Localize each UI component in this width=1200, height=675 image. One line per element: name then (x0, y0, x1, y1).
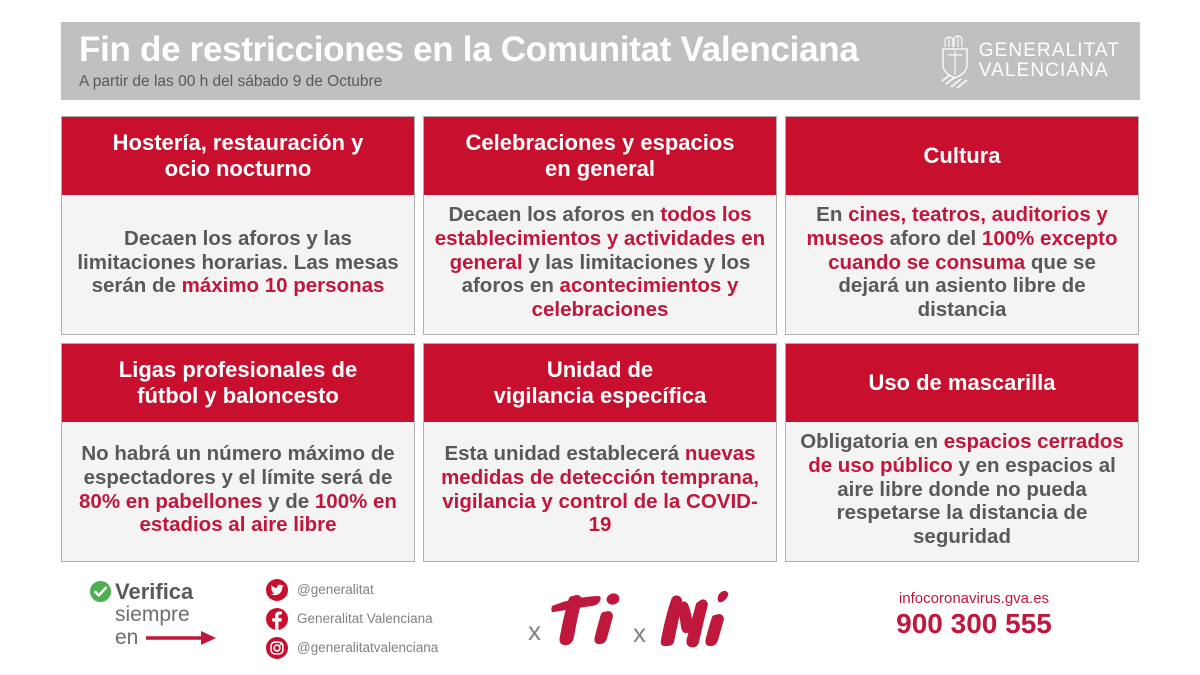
body-text: Obligatoria en (800, 430, 944, 453)
card-body-text: En cines, teatros, auditorios y museos a… (796, 203, 1128, 323)
campaign-logo-x-ti-x-mi: x x (516, 582, 776, 654)
generalitat-crest-icon (940, 34, 970, 88)
body-text: No habrá un número máximo de espectadore… (81, 442, 394, 489)
card-title: Hostería, restauración yocio nocturno (62, 117, 414, 195)
campaign-mi (661, 591, 728, 648)
twitter-icon[interactable] (266, 579, 288, 601)
card-title: Unidad devigilancia específica (424, 344, 776, 422)
contact-url[interactable]: infocoronavirus.gva.es (824, 590, 1124, 607)
body-text: aforo del (884, 227, 982, 250)
body-text: Esta unidad establecerá (444, 442, 684, 465)
card-title: Ligas profesionales defútbol y baloncest… (62, 344, 414, 422)
card-body: En cines, teatros, auditorios y museos a… (786, 195, 1138, 334)
card-body: Decaen los aforos en todos los estableci… (424, 195, 776, 334)
contact-block: infocoronavirus.gva.es 900 300 555 (824, 590, 1124, 640)
social-links: @generalitat Generalitat Valenciana @gen… (266, 578, 438, 659)
card-body: Decaen los aforos y las limitaciones hor… (62, 195, 414, 334)
social-handle: @generalitat (297, 583, 374, 597)
body-text: y de (262, 490, 314, 513)
generalitat-wordmark: GENERALITAT VALENCIANA (979, 41, 1120, 81)
social-row-facebook[interactable]: Generalitat Valenciana (266, 607, 438, 630)
instagram-icon[interactable] (266, 637, 288, 659)
verify-word-verifica: Verifica (115, 581, 193, 603)
arrow-right-icon (146, 630, 218, 646)
card-body-text: Decaen los aforos y las limitaciones hor… (72, 227, 404, 299)
social-handle: Generalitat Valenciana (297, 612, 433, 626)
card-body: Esta unidad establecerá nuevas medidas d… (424, 422, 776, 561)
verify-word-en: en (115, 627, 138, 648)
card-cultura: Cultura En cines, teatros, auditorios y … (785, 116, 1139, 335)
verify-line-1: Verifica (89, 580, 279, 603)
card-body: Obligatoria en espacios cerrados de uso … (786, 422, 1138, 561)
social-row-twitter[interactable]: @generalitat (266, 578, 438, 601)
logo-line-2: VALENCIANA (979, 61, 1120, 81)
card-hosteleria: Hostería, restauración yocio nocturno De… (61, 116, 415, 335)
verify-line-3: en (115, 627, 279, 648)
header-bar: Fin de restricciones en la Comunitat Val… (61, 22, 1140, 100)
infographic-poster: Fin de restricciones en la Comunitat Val… (0, 0, 1200, 675)
card-body: No habrá un número máximo de espectadore… (62, 422, 414, 561)
highlight-text: acontecimientos y celebraciones (532, 274, 739, 321)
header-text-block: Fin de restricciones en la Comunitat Val… (61, 32, 940, 90)
check-circle-icon (89, 580, 112, 603)
body-text: Decaen los aforos en (448, 203, 660, 226)
card-body-text: Decaen los aforos en todos los estableci… (434, 203, 766, 323)
card-ligas-profesionales: Ligas profesionales defútbol y baloncest… (61, 343, 415, 562)
contact-phone: 900 300 555 (824, 608, 1124, 640)
campaign-logo-svg: x x (516, 582, 776, 654)
card-celebraciones: Celebraciones y espaciosen general Decae… (423, 116, 777, 335)
social-handle: @generalitatvalenciana (297, 641, 438, 655)
card-body-text: No habrá un número máximo de espectadore… (72, 442, 404, 538)
logo-line-1: GENERALITAT (979, 41, 1120, 61)
campaign-ti (551, 592, 620, 645)
card-body-text: Obligatoria en espacios cerrados de uso … (796, 430, 1128, 550)
social-row-instagram[interactable]: @generalitatvalenciana (266, 636, 438, 659)
card-mascarilla: Uso de mascarilla Obligatoria en espacio… (785, 343, 1139, 562)
page-subtitle: A partir de las 00 h del sábado 9 de Oct… (79, 73, 940, 90)
verify-word-siempre: siempre (115, 604, 279, 626)
card-title: Celebraciones y espaciosen general (424, 117, 776, 195)
campaign-x2: x (633, 618, 646, 648)
page-title: Fin de restricciones en la Comunitat Val… (79, 32, 940, 68)
campaign-x1: x (528, 616, 541, 646)
highlight-text: máximo 10 personas (182, 274, 385, 297)
card-title: Uso de mascarilla (786, 344, 1138, 422)
measures-grid: Hostería, restauración yocio nocturno De… (61, 116, 1140, 571)
card-title: Cultura (786, 117, 1138, 195)
generalitat-logo: GENERALITAT VALENCIANA (940, 34, 1140, 88)
highlight-text: 80% en pabellones (79, 490, 262, 513)
verify-block: Verifica siempre en (89, 580, 279, 648)
body-text: En (816, 203, 848, 226)
card-unidad-vigilancia: Unidad devigilancia específica Esta unid… (423, 343, 777, 562)
card-body-text: Esta unidad establecerá nuevas medidas d… (434, 442, 766, 538)
footer: Verifica siempre en @generalitat (61, 578, 1140, 658)
facebook-icon[interactable] (266, 608, 288, 630)
